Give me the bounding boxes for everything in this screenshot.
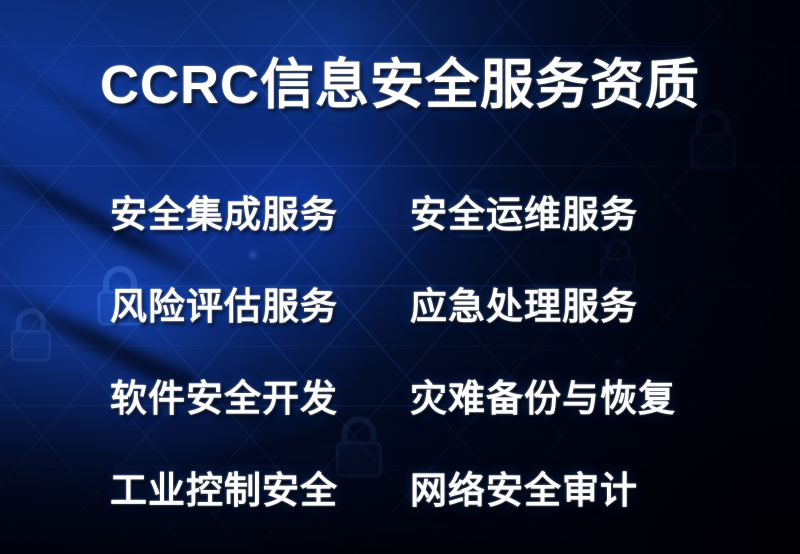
service-item: 工业控制安全 xyxy=(110,472,400,509)
service-item: 软件安全开发 xyxy=(110,380,400,417)
service-item: 安全运维服务 xyxy=(400,196,700,233)
service-item: 风险评估服务 xyxy=(110,288,400,325)
service-list: 安全集成服务 安全运维服务 风险评估服务 应急处理服务 软件安全开发 灾难备份与… xyxy=(110,168,700,536)
service-item: 应急处理服务 xyxy=(400,288,700,325)
service-item: 灾难备份与恢复 xyxy=(400,380,700,417)
padlock-icon xyxy=(6,306,56,364)
service-item: 安全集成服务 xyxy=(110,196,400,233)
page-title: CCRC信息安全服务资质 xyxy=(0,58,800,112)
poster-canvas: CCRC信息安全服务资质 安全集成服务 安全运维服务 风险评估服务 应急处理服务… xyxy=(0,0,800,554)
padlock-icon xyxy=(684,106,742,172)
service-item: 网络安全审计 xyxy=(400,472,700,509)
